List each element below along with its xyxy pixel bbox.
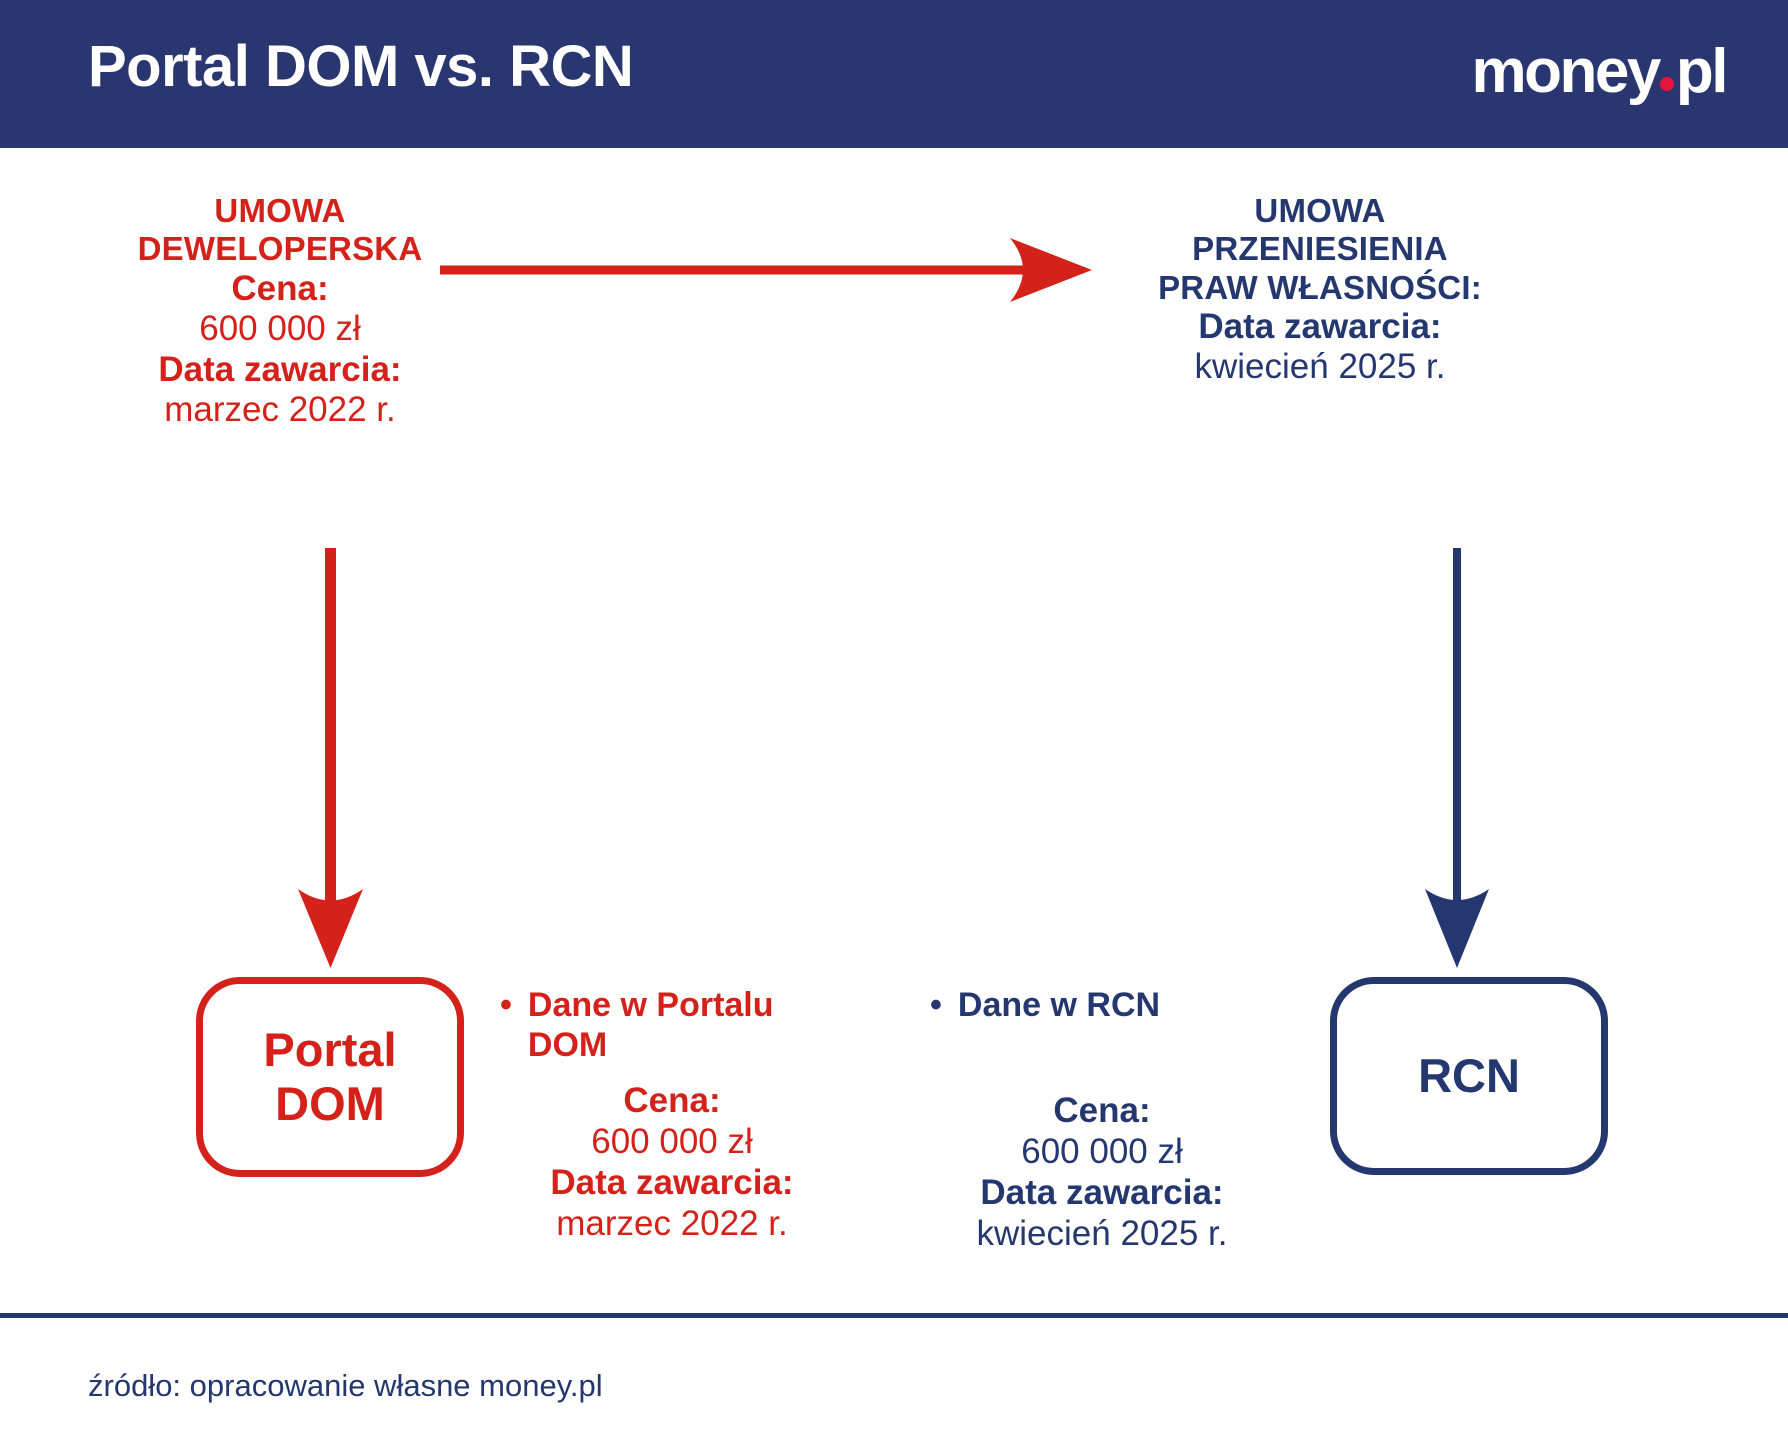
umowa-deweloperska-date-label: Data zawarcia: — [60, 350, 500, 391]
umowa-przeniesienia-heading-line2: PRZENIESIENIA — [1070, 230, 1570, 268]
logo-text-pl: pl — [1676, 36, 1726, 107]
bullet-label-portal-dom: Dane w Portalu DOM — [528, 985, 844, 1065]
portal-dom-date-label: Data zawarcia: — [500, 1163, 844, 1204]
rcn-price-value: 600 000 zł — [930, 1132, 1274, 1173]
rcn-date-label: Data zawarcia: — [930, 1173, 1274, 1214]
rcn-details: Cena: 600 000 zł Data zawarcia: kwiecień… — [930, 1091, 1274, 1255]
node-rcn[interactable]: RCN — [1330, 977, 1608, 1175]
umowa-deweloperska-price-value: 600 000 zł — [60, 309, 500, 350]
node-portal-dom-label: Portal DOM — [263, 1023, 396, 1130]
node-portal-dom-line1: Portal — [263, 1023, 396, 1077]
bullet-item-rcn: • Dane w RCN — [930, 985, 1274, 1025]
portal-dom-date-value: marzec 2022 r. — [500, 1204, 844, 1245]
bullet-label-rcn: Dane w RCN — [958, 985, 1160, 1025]
infographic-canvas: Portal DOM vs. RCN money pl UMOWA DEWELO… — [0, 0, 1788, 1440]
umowa-przeniesienia-heading-line1: UMOWA — [1070, 192, 1570, 230]
logo-dot-icon — [1660, 77, 1674, 91]
umowa-deweloperska-date-value: marzec 2022 r. — [60, 390, 500, 431]
portal-dom-price-label: Cena: — [500, 1081, 844, 1122]
node-portal-dom[interactable]: Portal DOM — [196, 977, 464, 1177]
logo-text-money: money — [1472, 36, 1659, 107]
arrow-down-navy-icon — [1392, 548, 1522, 973]
bullet-dot-icon: • — [500, 985, 528, 1025]
rcn-date-value: kwiecień 2025 r. — [930, 1214, 1274, 1255]
column-dane-w-rcn: • Dane w RCN Cena: 600 000 zł Data zawar… — [930, 985, 1274, 1255]
money-pl-logo: money pl — [1472, 36, 1726, 107]
rcn-price-label: Cena: — [930, 1091, 1274, 1132]
umowa-przeniesienia-block: UMOWA PRZENIESIENIA PRAW WŁASNOŚCI: Data… — [1070, 192, 1570, 388]
node-portal-dom-line2: DOM — [263, 1077, 396, 1131]
column-dane-w-portalu-dom: • Dane w Portalu DOM Cena: 600 000 zł Da… — [500, 985, 844, 1245]
source-note: źródło: opracowanie własne money.pl — [88, 1368, 603, 1404]
umowa-przeniesienia-date-label: Data zawarcia: — [1070, 307, 1570, 348]
bullet-item-portal-dom: • Dane w Portalu DOM — [500, 985, 844, 1065]
portal-dom-details: Cena: 600 000 zł Data zawarcia: marzec 2… — [500, 1081, 844, 1245]
bullet-dot-icon: • — [930, 985, 958, 1025]
portal-dom-price-value: 600 000 zł — [500, 1122, 844, 1163]
arrow-down-red-icon — [258, 548, 338, 973]
umowa-przeniesienia-heading-line3: PRAW WŁASNOŚCI: — [1070, 269, 1570, 307]
umowa-deweloperska-heading-line2: DEWELOPERSKA — [60, 230, 500, 268]
footer-divider — [0, 1313, 1788, 1318]
arrow-right-red-icon — [440, 236, 1100, 306]
umowa-przeniesienia-date-value: kwiecień 2025 r. — [1070, 347, 1570, 388]
umowa-deweloperska-heading-line1: UMOWA — [60, 192, 500, 230]
header-bar: Portal DOM vs. RCN money pl — [0, 0, 1788, 148]
page-title: Portal DOM vs. RCN — [88, 33, 633, 100]
umowa-deweloperska-block: UMOWA DEWELOPERSKA Cena: 600 000 zł Data… — [60, 192, 500, 431]
umowa-deweloperska-price-label: Cena: — [60, 269, 500, 310]
node-rcn-label: RCN — [1418, 1049, 1520, 1103]
